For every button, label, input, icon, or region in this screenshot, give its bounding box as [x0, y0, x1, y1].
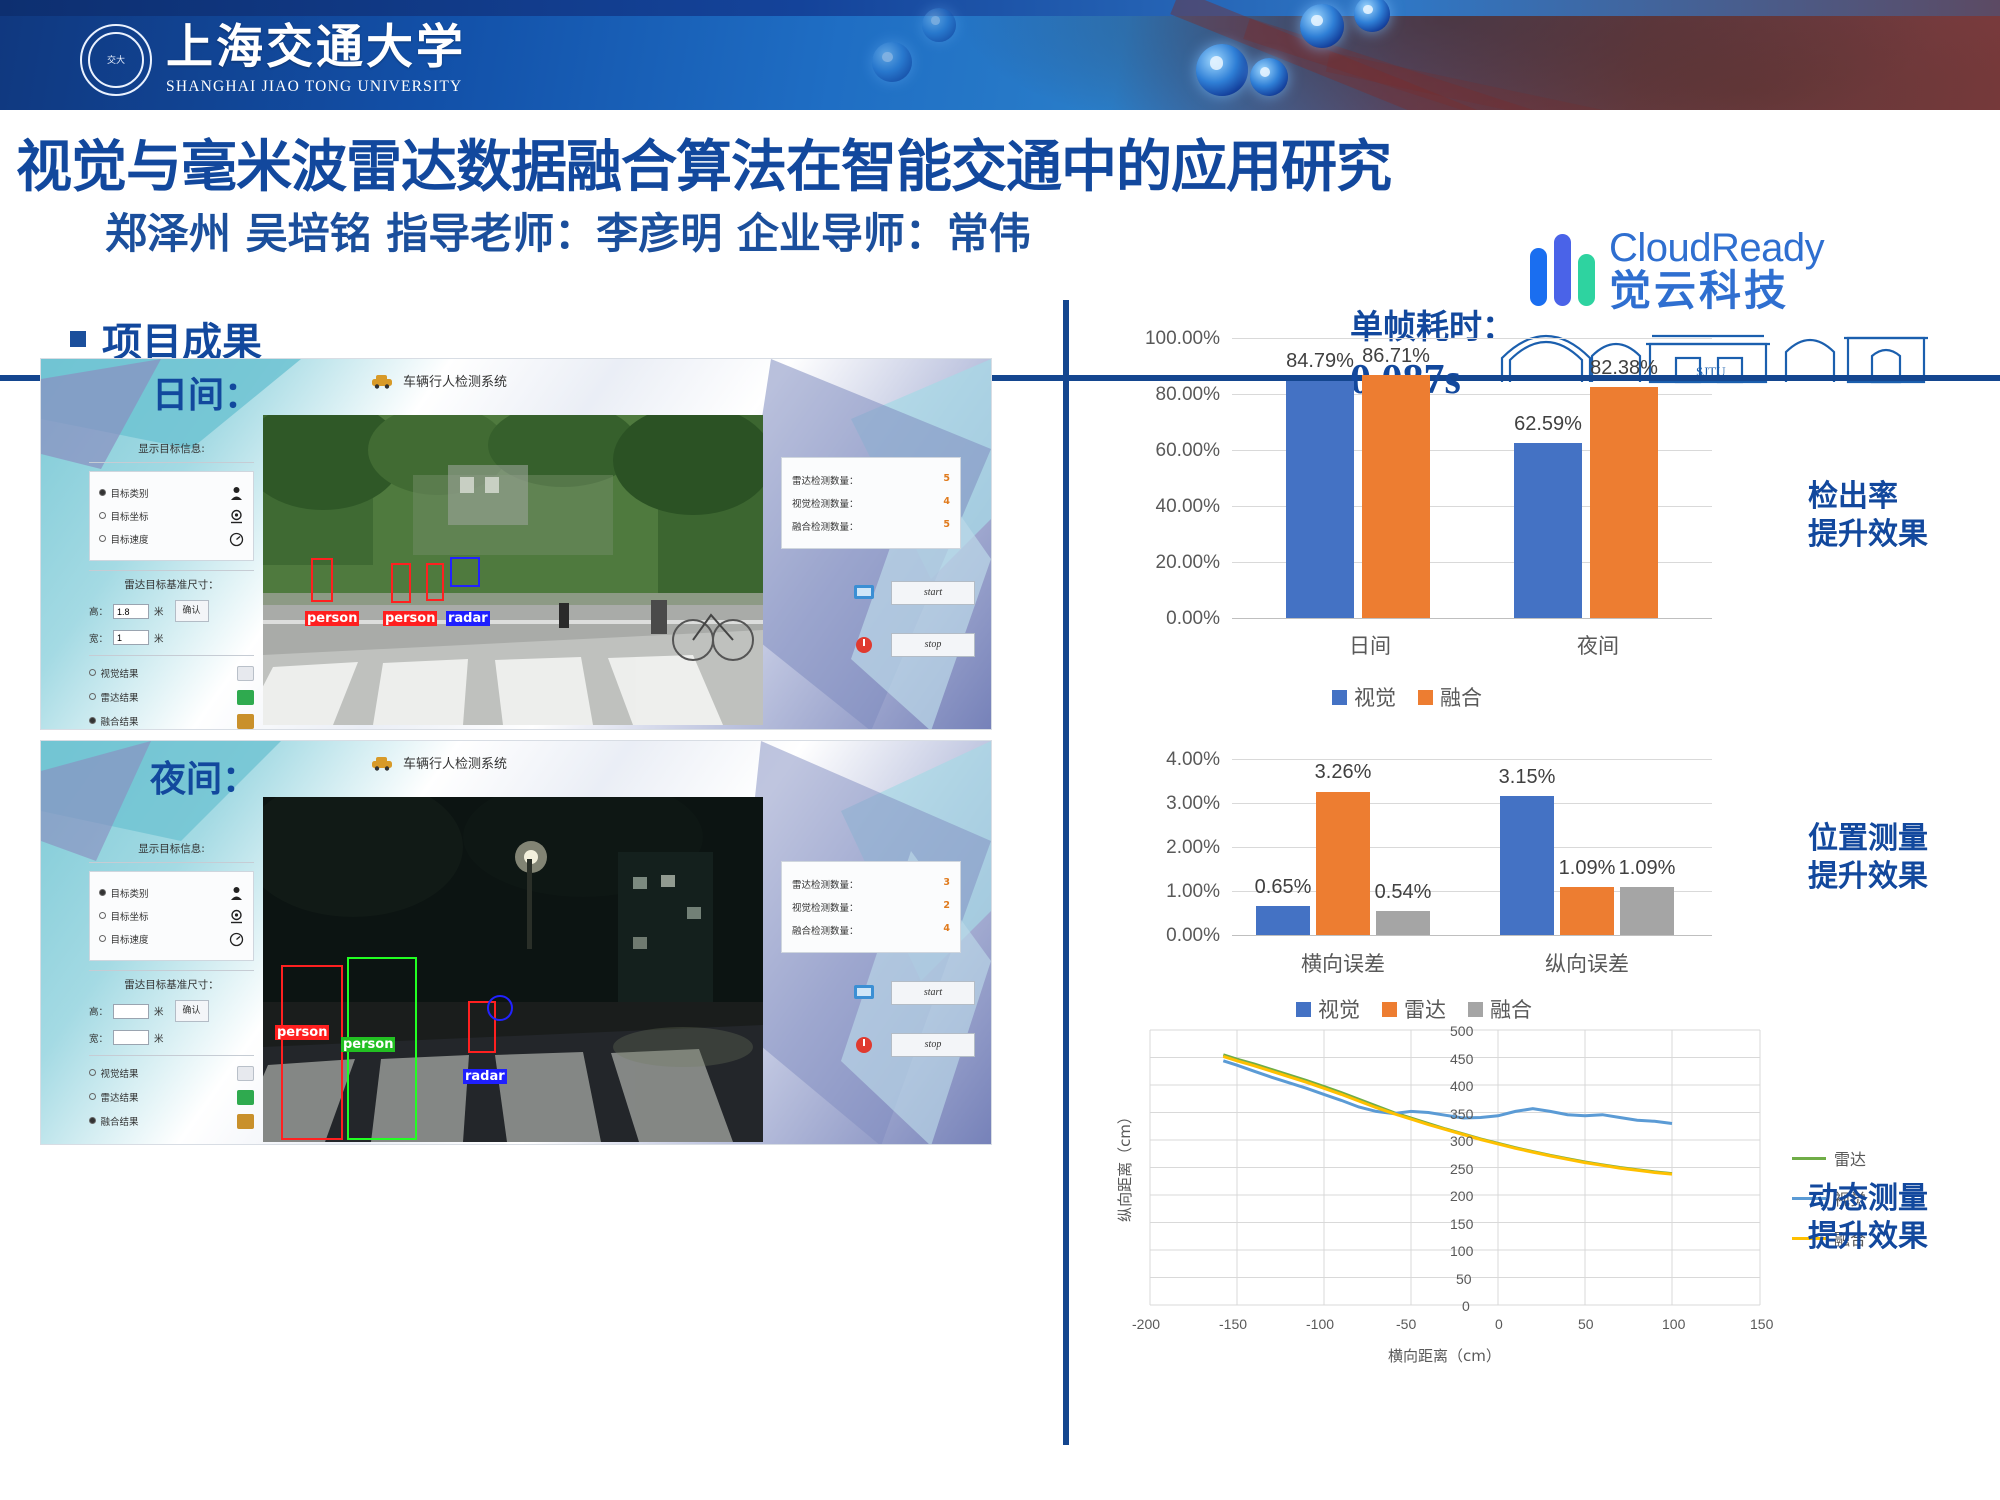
night-panel-header: 显示目标信息:: [89, 841, 254, 856]
night-width-input[interactable]: [113, 1030, 149, 1045]
note3-line2: 提升效果: [1808, 1218, 1928, 1256]
start-button[interactable]: start: [891, 581, 975, 605]
counter-row-radar: 雷达检测数量： 5: [792, 473, 950, 487]
page-title: 视觉与毫米波雷达数据融合算法在智能交通中的应用研究: [16, 122, 1346, 203]
day-detection-photo: person person radar: [263, 415, 763, 725]
chart3-ytick-250: 250: [1450, 1161, 1473, 1177]
option-row-coords[interactable]: 目标坐标: [99, 507, 244, 525]
height-input[interactable]: 1.8: [113, 604, 149, 619]
night-fusion-result-icon: [237, 1114, 254, 1129]
night-counter-value-vision: 2: [943, 900, 950, 914]
note1-line1: 检出率: [1808, 478, 1928, 516]
night-counter-label-fusion: 融合检测数量：: [792, 923, 859, 937]
counter-value-vision: 4: [943, 496, 950, 510]
chart3-legend-swatch-radar: [1792, 1157, 1826, 1160]
chart1-dlabel-3: 82.38%: [1572, 357, 1676, 380]
counter-value-fusion: 5: [943, 519, 950, 533]
option-row-category[interactable]: 目标类别: [99, 484, 244, 502]
day-stop-row: stop: [853, 633, 975, 657]
chart1-ytick-1: 20.00%: [1100, 552, 1220, 574]
night-vision-result-icon: [237, 1066, 254, 1081]
night-radio-target-speed[interactable]: [99, 935, 106, 942]
night-height-input[interactable]: [113, 1004, 149, 1019]
chart1-ytick-0: 0.00%: [1100, 608, 1220, 630]
note-dynamic-measure: 动态测量 提升效果: [1808, 1180, 1928, 1255]
bbox-person-2: [391, 563, 411, 603]
chart2-bar-lat-fusion: [1376, 911, 1430, 935]
night-counter-row-vision: 视觉检测数量： 2: [792, 900, 950, 914]
chart1-legend-swatch-fusion: [1418, 690, 1433, 705]
chart2-bar-lat-radar: [1316, 792, 1370, 935]
result-label-fusion: 融合结果: [100, 717, 138, 728]
chart1-dlabel-1: 86.71%: [1344, 345, 1448, 368]
chart1-xtick-day: 日间: [1298, 630, 1442, 660]
night-counter-label-vision: 视觉检测数量：: [792, 900, 859, 914]
university-name-cn: 上海交通大学: [166, 24, 466, 73]
night-option-label-category: 目标类别: [110, 889, 148, 900]
chart2-grid-2: [1232, 847, 1712, 848]
night-start-row: start: [853, 981, 975, 1005]
note3-line1: 动态测量: [1808, 1180, 1928, 1218]
bbox-radar-1: [450, 557, 480, 587]
result-row-fusion[interactable]: 融合结果: [89, 712, 254, 730]
chart2-dlabel-2: 0.54%: [1353, 881, 1453, 904]
night-control-panel: 显示目标信息: 目标类别 目标坐标 目标速度 雷达目标基准尺寸： 高： 米 确认: [89, 841, 254, 1136]
result-label-radar: 雷达结果: [100, 693, 138, 704]
chart2-legend-swatch-vision: [1296, 1002, 1311, 1017]
authors-line: 郑泽州 吴培铭 指导老师：李彦明 企业导师：常伟: [105, 200, 1031, 261]
chart3-ytick-500: 500: [1450, 1023, 1473, 1039]
night-height-label: 高：: [89, 1004, 108, 1018]
chart2-dlabel-5: 1.09%: [1597, 857, 1697, 880]
radio-radar-result[interactable]: [89, 693, 96, 700]
chart1-bar-night-fusion: [1590, 387, 1658, 618]
size-header: 雷达目标基准尺寸：: [89, 577, 254, 592]
night-result-row-vision[interactable]: 视觉结果: [89, 1064, 254, 1082]
chart3-ytick-150: 150: [1450, 1216, 1473, 1232]
chart2-bar-lat-vision: [1256, 906, 1310, 935]
note1-line2: 提升效果: [1808, 516, 1928, 554]
night-confirm-button[interactable]: 确认: [175, 1000, 209, 1022]
chart-dynamic-measure: 500 450 400 350 300 250 200 150 100 50 0…: [1120, 1020, 1880, 1340]
speedometer-icon: [229, 532, 244, 547]
night-detection-tag-radar-1: radar: [463, 1069, 507, 1084]
sjtu-seal-text: 交大: [107, 56, 125, 65]
night-target-info-options: 目标类别 目标坐标 目标速度: [89, 871, 254, 961]
chart2-ytick-1: 1.00%: [1100, 881, 1220, 903]
note2-line1: 位置测量: [1808, 820, 1928, 858]
counter-row-vision: 视觉检测数量： 4: [792, 496, 950, 510]
night-height-row: 高： 米 确认: [89, 1000, 254, 1022]
night-detection-tag-person-2: person: [341, 1037, 395, 1052]
chart3-xtick-1: -150: [1219, 1316, 1247, 1332]
chart3-ytick-50: 50: [1456, 1271, 1472, 1287]
location-pin-icon-night: [229, 909, 244, 924]
night-stop-button[interactable]: stop: [891, 1033, 975, 1057]
night-counter-panel: 雷达检测数量： 3 视觉检测数量： 2 融合检测数量： 4: [781, 861, 961, 953]
chart3-legend-label-radar: 雷达: [1834, 1146, 1866, 1170]
night-result-label-vision: 视觉结果: [100, 1069, 138, 1080]
night-radar-result-icon: [237, 1090, 254, 1105]
radar-result-icon: [237, 690, 254, 705]
chart2-ytick-0: 0.00%: [1100, 925, 1220, 947]
night-label: 夜间：: [150, 750, 258, 802]
counter-value-radar: 5: [943, 473, 950, 487]
chart1-ytick-2: 40.00%: [1100, 496, 1220, 518]
chart2-legend-swatch-radar: [1382, 1002, 1397, 1017]
counter-label-fusion: 融合检测数量：: [792, 519, 859, 533]
chart2-bar-lon-fusion: [1620, 887, 1674, 935]
result-row-radar[interactable]: 雷达结果: [89, 688, 254, 706]
chart3-xtick-2: -100: [1306, 1316, 1334, 1332]
chart1-grid-100: [1232, 338, 1712, 339]
night-option-label-speed: 目标速度: [110, 935, 148, 946]
chart1-legend-item-vision: 视觉: [1332, 682, 1396, 712]
width-input[interactable]: 1: [113, 630, 149, 645]
power-icon-night: [853, 1036, 875, 1054]
column-divider: [1063, 300, 1069, 1445]
night-detection-tag-person-1: person: [275, 1025, 329, 1040]
chart1-legend-label-fusion: 融合: [1440, 682, 1482, 712]
night-height-unit: 米: [154, 1004, 164, 1018]
sponsor-name-en: CloudReady: [1609, 228, 1824, 268]
bbox-night-radar-1: [487, 995, 513, 1021]
chart2-dlabel-1: 3.26%: [1293, 761, 1393, 784]
chart3-xtick-6: 100: [1662, 1316, 1685, 1332]
width-unit: 米: [154, 631, 164, 645]
night-radio-fusion-result[interactable]: [89, 1117, 96, 1124]
day-start-row: start: [853, 581, 975, 605]
night-counter-row-radar: 雷达检测数量： 3: [792, 877, 950, 891]
night-counter-value-radar: 3: [943, 877, 950, 891]
note2-line2: 提升效果: [1808, 858, 1928, 896]
chart3-xtick-4: 0: [1495, 1316, 1503, 1332]
radio-target-speed[interactable]: [99, 535, 106, 542]
result-label-vision: 视觉结果: [100, 669, 138, 680]
height-row: 高： 1.8 米 确认: [89, 600, 254, 622]
night-width-label: 宽：: [89, 1031, 108, 1045]
detection-tag-person-2: person: [383, 611, 437, 626]
target-info-options: 目标类别 目标坐标 目标速度: [89, 471, 254, 561]
night-width-unit: 米: [154, 1031, 164, 1045]
night-start-button[interactable]: start: [891, 981, 975, 1005]
chart2-xtick-lateral: 横向误差: [1271, 948, 1415, 978]
night-counter-row-fusion: 融合检测数量： 4: [792, 923, 950, 937]
width-row: 宽： 1 米: [89, 630, 254, 645]
app-titlebar: 车辆行人检测系统: [371, 371, 507, 390]
chart-position-error: 0.00% 1.00% 2.00% 3.00% 4.00% 0.65% 3.26…: [1100, 720, 1740, 970]
night-stop-row: stop: [853, 1033, 975, 1057]
chart3-xtick-7: 150: [1750, 1316, 1773, 1332]
option-row-speed[interactable]: 目标速度: [99, 530, 244, 548]
detection-tag-person-1: person: [305, 611, 359, 626]
chart1-axis-0: [1232, 618, 1712, 619]
note-detection-rate: 检出率 提升效果: [1808, 478, 1928, 553]
sjtu-logo: 交大 上海交通大学 SHANGHAI JIAO TONG UNIVERSITY: [80, 24, 466, 96]
vision-result-icon: [237, 666, 254, 681]
night-result-row-fusion[interactable]: 融合结果: [89, 1112, 254, 1130]
chart1-legend: 视觉 融合: [1332, 682, 1482, 712]
night-panel-divider: [89, 862, 254, 863]
chart3-ytick-300: 300: [1450, 1133, 1473, 1149]
university-name-en: SHANGHAI JIAO TONG UNIVERSITY: [166, 78, 466, 96]
chart3-xtick-3: -50: [1396, 1316, 1416, 1332]
chart1-ytick-4: 80.00%: [1100, 384, 1220, 406]
night-radio-radar-result[interactable]: [89, 1093, 96, 1100]
night-result-label-radar: 雷达结果: [100, 1093, 138, 1104]
night-result-label-fusion: 融合结果: [100, 1117, 138, 1128]
height-label: 高：: [89, 604, 108, 618]
counter-label-radar: 雷达检测数量：: [792, 473, 859, 487]
title-block: 视觉与毫米波雷达数据融合算法在智能交通中的应用研究 郑泽州 吴培铭 指导老师：李…: [0, 110, 2000, 265]
night-radio-target-category[interactable]: [99, 889, 106, 896]
header-banner: 交大 上海交通大学 SHANGHAI JIAO TONG UNIVERSITY: [0, 0, 2000, 110]
chart2-legend-swatch-fusion: [1468, 1002, 1483, 1017]
day-scene-illustration: [263, 415, 763, 725]
panel-divider-2: [89, 570, 254, 571]
chart3-ytick-100: 100: [1450, 1243, 1473, 1259]
chart1-legend-swatch-vision: [1332, 690, 1347, 705]
night-detection-photo: person person radar: [263, 797, 763, 1142]
chart3-ytick-0: 0: [1462, 1298, 1470, 1314]
night-panel-divider-2: [89, 970, 254, 971]
bbox-person-1: [311, 558, 333, 602]
note-position-measure: 位置测量 提升效果: [1808, 820, 1928, 895]
counter-row-fusion: 融合检测数量： 5: [792, 519, 950, 533]
day-counter-panel: 雷达检测数量： 5 视觉检测数量： 4 融合检测数量： 5: [781, 457, 961, 549]
night-size-header: 雷达目标基准尺寸：: [89, 977, 254, 992]
night-result-row-radar[interactable]: 雷达结果: [89, 1088, 254, 1106]
result-row-vision[interactable]: 视觉结果: [89, 664, 254, 682]
radio-target-category[interactable]: [99, 489, 106, 496]
chart1-bar-day-fusion: [1362, 375, 1430, 618]
chart3-ytick-400: 400: [1450, 1078, 1473, 1094]
night-counter-value-fusion: 4: [943, 923, 950, 937]
night-app-titlebar: 车辆行人检测系统: [371, 753, 507, 772]
chart-detection-rate: 0.00% 20.00% 40.00% 60.00% 80.00% 100.00…: [1100, 300, 1740, 550]
night-option-label-coords: 目标坐标: [110, 912, 148, 923]
person-icon: [229, 486, 244, 501]
chart2-dlabel-3: 3.15%: [1477, 766, 1577, 789]
radio-vision-result[interactable]: [89, 669, 96, 676]
option-label-coords: 目标坐标: [110, 512, 148, 523]
car-icon-night: [371, 755, 393, 771]
night-option-row-coords[interactable]: 目标坐标: [99, 907, 244, 925]
confirm-button[interactable]: 确认: [175, 600, 209, 622]
chart3-legend-item-radar: 雷达: [1792, 1146, 1866, 1170]
fusion-result-icon: [237, 714, 254, 729]
chart2-ytick-2: 2.00%: [1100, 837, 1220, 859]
car-icon: [371, 373, 393, 389]
sponsor-bars-icon: [1530, 234, 1595, 306]
panel-divider: [89, 462, 254, 463]
option-label-category: 目标类别: [110, 489, 148, 500]
chart2-dlabel-0: 0.65%: [1233, 876, 1333, 899]
monitor-icon-night: [853, 984, 875, 1002]
chart1-ytick-3: 60.00%: [1100, 440, 1220, 462]
night-radio-target-coords[interactable]: [99, 912, 106, 919]
chart1-xtick-night: 夜间: [1526, 630, 1670, 660]
chart1-ytick-5: 100.00%: [1100, 328, 1220, 350]
chart3-xlabel: 横向距离（cm）: [1388, 1345, 1501, 1366]
night-radio-vision-result[interactable]: [89, 1069, 96, 1076]
chart3-plot: [1120, 1020, 1880, 1340]
chart1-bar-night-vision: [1514, 443, 1582, 618]
chart2-ytick-4: 4.00%: [1100, 749, 1220, 771]
width-label: 宽：: [89, 631, 108, 645]
day-control-panel: 显示目标信息: 目标类别 目标坐标 目标速度 雷达目标基准尺寸： 高： 1.8 …: [89, 441, 254, 730]
option-label-speed: 目标速度: [110, 535, 148, 546]
chart3-xtick-0: -200: [1132, 1316, 1160, 1332]
sjtu-seal-icon: 交大: [80, 24, 152, 96]
bullet-square-icon: [70, 331, 86, 347]
bbox-person-3: [426, 563, 444, 601]
person-icon-night: [229, 886, 244, 901]
chart2-axis-0: [1232, 935, 1712, 936]
night-app-window-title: 车辆行人检测系统: [403, 753, 507, 772]
chart3-ytick-200: 200: [1450, 1188, 1473, 1204]
chart2-grid-4: [1232, 759, 1712, 760]
speedometer-icon-night: [229, 932, 244, 947]
radio-target-coords[interactable]: [99, 512, 106, 519]
chart3-ytick-350: 350: [1450, 1106, 1473, 1122]
power-icon: [853, 636, 875, 654]
chart3-ytick-450: 450: [1450, 1051, 1473, 1067]
stop-button[interactable]: stop: [891, 633, 975, 657]
panel-header: 显示目标信息:: [89, 441, 254, 456]
monitor-icon: [853, 584, 875, 602]
chart3-ylabel: 纵向距离（cm）: [1114, 1109, 1135, 1222]
chart1-dlabel-2: 62.59%: [1496, 413, 1600, 436]
night-panel-divider-3: [89, 1055, 254, 1056]
app-window-title: 车辆行人检测系统: [403, 371, 507, 390]
panel-divider-3: [89, 655, 254, 656]
detection-tag-radar-1: radar: [446, 611, 490, 626]
chart2-bar-lon-radar: [1560, 887, 1614, 935]
counter-label-vision: 视觉检测数量：: [792, 496, 859, 510]
bbox-night-person-1: [281, 965, 343, 1140]
chart2-ytick-3: 3.00%: [1100, 793, 1220, 815]
day-label: 日间：: [152, 366, 260, 418]
night-width-row: 宽： 米: [89, 1030, 254, 1045]
night-counter-label-radar: 雷达检测数量：: [792, 877, 859, 891]
chart3-xtick-5: 50: [1578, 1316, 1594, 1332]
location-pin-icon: [229, 509, 244, 524]
night-option-row-category[interactable]: 目标类别: [99, 884, 244, 902]
radio-fusion-result[interactable]: [89, 717, 96, 724]
chart1-bar-day-vision: [1286, 381, 1354, 618]
chart1-legend-label-vision: 视觉: [1354, 682, 1396, 712]
night-option-row-speed[interactable]: 目标速度: [99, 930, 244, 948]
chart2-grid-3: [1232, 803, 1712, 804]
chart2-xtick-longitudinal: 纵向误差: [1515, 948, 1659, 978]
chart1-legend-item-fusion: 融合: [1418, 682, 1482, 712]
height-unit: 米: [154, 604, 164, 618]
